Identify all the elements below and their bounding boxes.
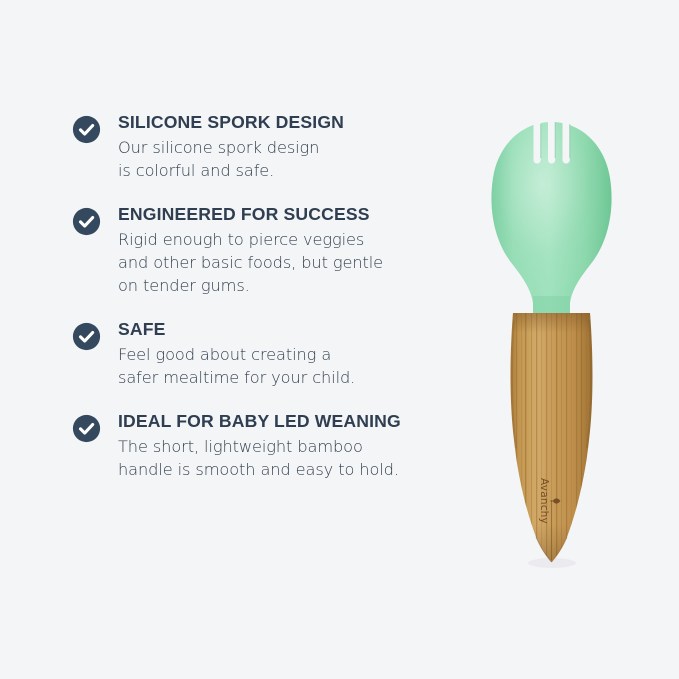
check-circle-icon <box>72 204 102 236</box>
feature-item-silicone-spork-design: SILICONE SPORK DESIGN Our silicone spork… <box>72 112 472 182</box>
feature-item-ideal-for-baby-led-weaning: IDEAL FOR BABY LED WEANING The short, li… <box>72 411 472 481</box>
feature-title: IDEAL FOR BABY LED WEANING <box>118 411 472 432</box>
feature-item-safe: SAFE Feel good about creating a safer me… <box>72 319 472 389</box>
feature-description: Feel good about creating a safer mealtim… <box>118 343 472 389</box>
feature-title: SILICONE SPORK DESIGN <box>118 112 472 133</box>
spork-tine-slits <box>534 119 570 164</box>
feature-description-line: The short, lightweight bamboo <box>118 435 472 458</box>
feature-description: The short, lightweight bamboo handle is … <box>118 435 472 481</box>
feature-text-block: SAFE Feel good about creating a safer me… <box>118 319 472 389</box>
feature-description-line: safer mealtime for your child. <box>118 366 472 389</box>
feature-description-line: Our silicone spork design <box>118 136 472 159</box>
feature-title: ENGINEERED FOR SUCCESS <box>118 204 472 225</box>
feature-item-engineered-for-success: ENGINEERED FOR SUCCESS Rigid enough to p… <box>72 204 472 297</box>
check-circle-icon <box>72 112 102 144</box>
check-circle-icon <box>72 411 102 443</box>
product-image-spork <box>470 100 650 580</box>
feature-description-line: on tender gums. <box>118 274 472 297</box>
feature-description: Our silicone spork design is colorful an… <box>118 136 472 182</box>
feature-description-line: is colorful and safe. <box>118 159 472 182</box>
spork-silicone-head <box>491 119 611 318</box>
feature-description-line: Rigid enough to pierce veggies <box>118 228 472 251</box>
feature-description: Rigid enough to pierce veggies and other… <box>118 228 472 297</box>
feature-text-block: IDEAL FOR BABY LED WEANING The short, li… <box>118 411 472 481</box>
infographic-canvas: SILICONE SPORK DESIGN Our silicone spork… <box>0 0 679 679</box>
feature-description-line: handle is smooth and easy to hold. <box>118 458 472 481</box>
feature-description-line: and other basic foods, but gentle <box>118 251 472 274</box>
feature-text-block: SILICONE SPORK DESIGN Our silicone spork… <box>118 112 472 182</box>
feature-list: SILICONE SPORK DESIGN Our silicone spork… <box>72 112 472 503</box>
check-circle-icon <box>72 319 102 351</box>
feature-title: SAFE <box>118 319 472 340</box>
feature-description-line: Feel good about creating a <box>118 343 472 366</box>
feature-text-block: ENGINEERED FOR SUCCESS Rigid enough to p… <box>118 204 472 297</box>
spork-bamboo-handle <box>511 305 593 570</box>
